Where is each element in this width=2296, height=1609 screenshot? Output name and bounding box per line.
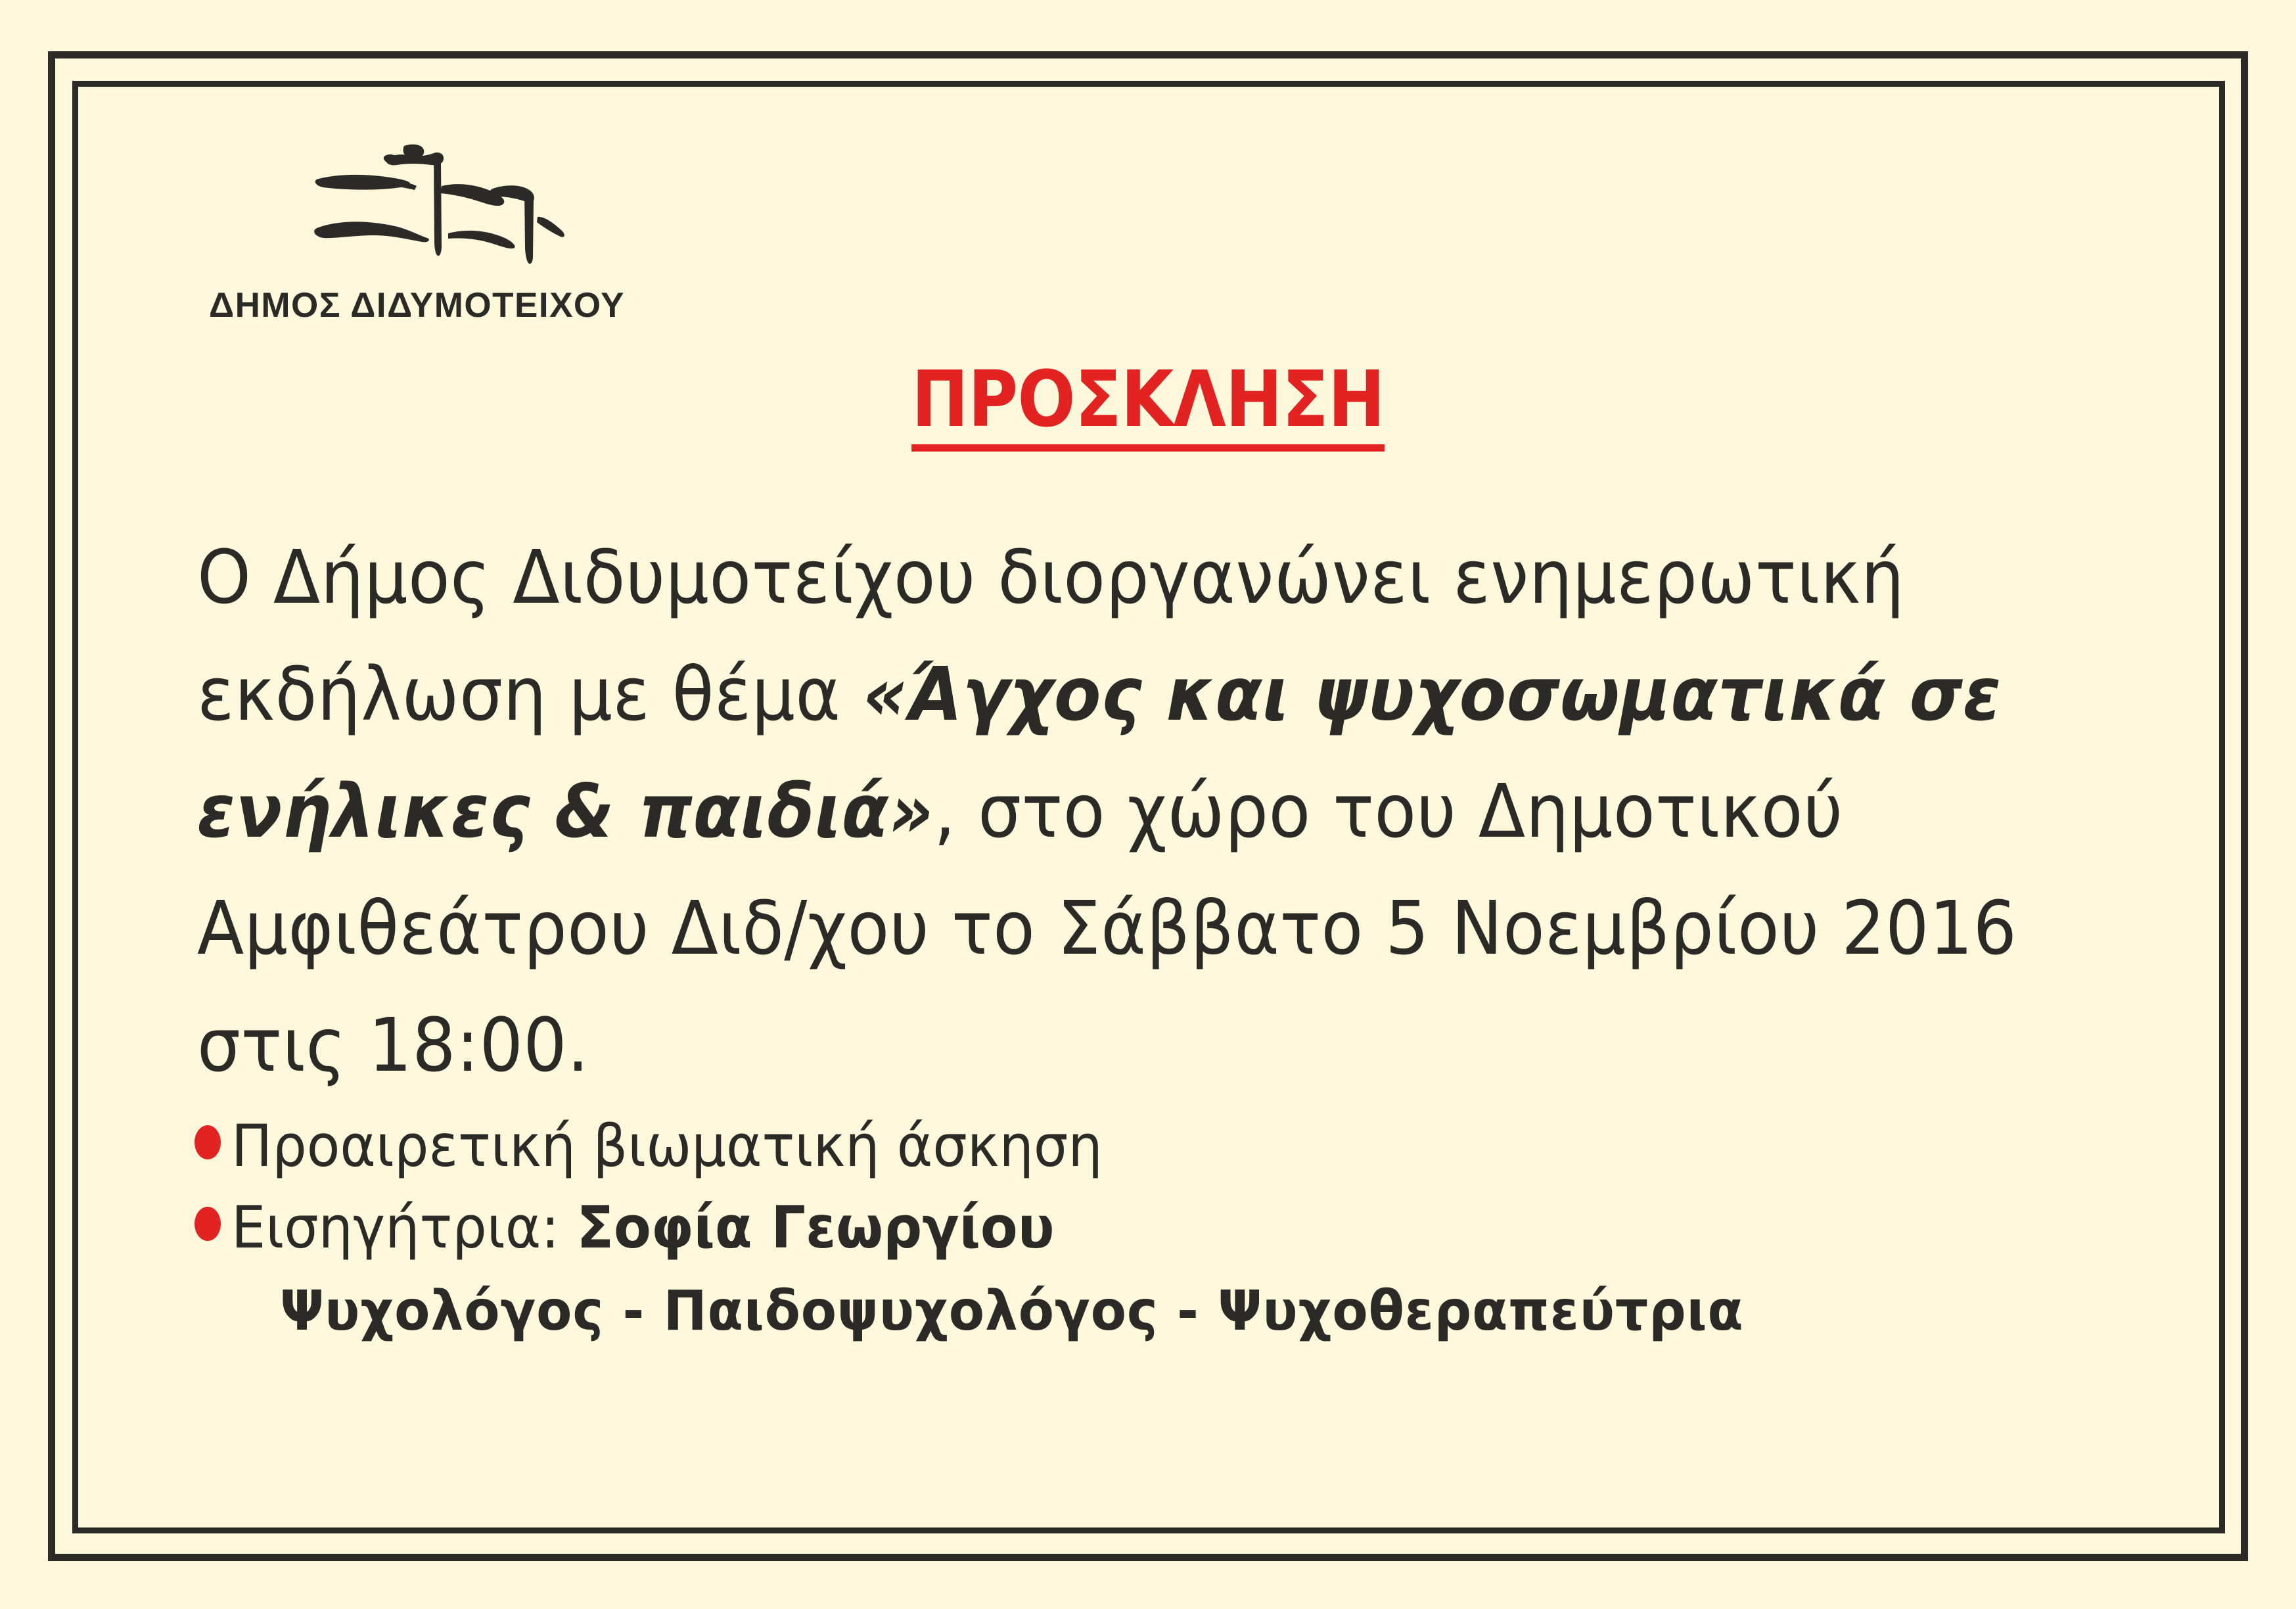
body-line-5: στις 18:00. xyxy=(197,987,2049,1104)
speaker-line: Εισηγήτρια: Σοφία Γεωργίου xyxy=(231,1191,1055,1265)
event-topic-part-2: ενήλικες & παιδιά» xyxy=(197,769,934,854)
castle-icon xyxy=(302,128,578,276)
body-line-1: Ο Δήμος Διδυμοτείχου διοργανώνει ενημερω… xyxy=(197,519,2049,636)
details-list: Προαιρετική βιωματική άσκηση Εισηγήτρια:… xyxy=(195,1109,2186,1349)
red-oval-bullet-icon xyxy=(195,1207,221,1241)
body-line-3: ενήλικες & παιδιά», στο χώρο του Δημοτικ… xyxy=(197,753,2049,870)
event-topic-part-1: «Άγχος και ψυχοσωματικά σε xyxy=(863,652,2002,737)
invitation-poster: ΔΗΜΟΣ ΔΙΔΥΜΟΤΕΙΧΟΥ ΠΡΟΣΚΛΗΣΗ Ο Δήμος Διδ… xyxy=(0,0,2296,1609)
invitation-body: Ο Δήμος Διδυμοτείχου διοργανώνει ενημερω… xyxy=(197,519,2188,1104)
body-line-3-suffix: , στο χώρο του Δημοτικού xyxy=(934,769,1843,854)
list-item: Προαιρετική βιωματική άσκηση xyxy=(195,1109,2186,1183)
body-line-2-prefix: εκδήλωση με θέμα xyxy=(197,652,863,737)
body-line-2: εκδήλωση με θέμα «Άγχος και ψυχοσωματικά… xyxy=(197,636,2049,753)
optional-exercise-text: Προαιρετική βιωματική άσκηση xyxy=(231,1109,1103,1183)
page-title: ΠΡΟΣΚΛΗΣΗ xyxy=(911,360,1385,452)
title-container: ΠΡΟΣΚΛΗΣΗ xyxy=(0,360,2296,452)
speaker-credentials: Ψυχολόγος - Παιδοψυχολόγος - Ψυχοθεραπεύ… xyxy=(280,1272,2071,1349)
red-oval-bullet-icon xyxy=(195,1125,221,1159)
municipality-logo: ΔΗΜΟΣ ΔΙΔΥΜΟΤΕΙΧΟΥ xyxy=(197,128,697,325)
logo-caption: ΔΗΜΟΣ ΔΙΔΥΜΟΤΕΙΧΟΥ xyxy=(209,285,697,325)
speaker-name: Σοφία Γεωργίου xyxy=(576,1194,1054,1261)
speaker-label: Εισηγήτρια: xyxy=(231,1194,576,1261)
list-item: Εισηγήτρια: Σοφία Γεωργίου xyxy=(195,1191,2186,1265)
body-line-4: Αμφιθεάτρου Διδ/χου το Σάββατο 5 Νοεμβρί… xyxy=(197,870,2049,987)
